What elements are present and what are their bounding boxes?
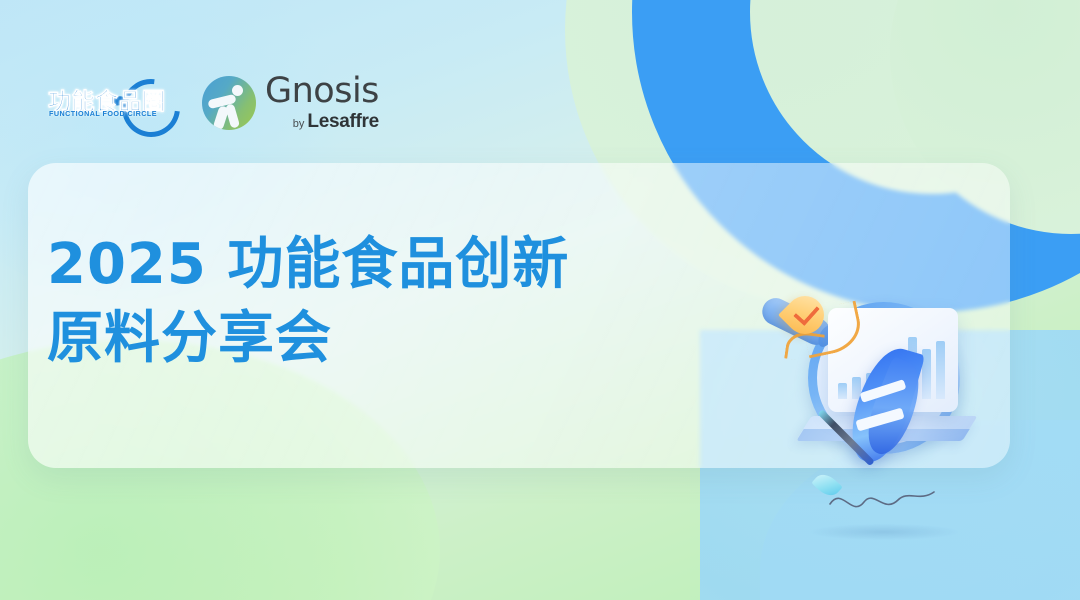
logo-bar: 功能食品圈 FUNCTIONAL FOOD CIRCLE Gnosis by L… — [48, 74, 379, 132]
headline-line-1: 2025 功能食品创新 — [47, 228, 687, 302]
ground-shadow — [810, 524, 958, 540]
hero-illustration — [756, 288, 996, 558]
signature-line — [828, 484, 936, 520]
gnosis-parent-label: Lesaffre — [307, 111, 379, 133]
gnosis-wordmark: Gnosis by Lesaffre — [265, 74, 379, 133]
figure-head — [232, 85, 243, 96]
quill-pen-icon — [812, 346, 952, 546]
figure-leg-right — [225, 103, 240, 129]
functional-food-circle-logo: 功能食品圈 FUNCTIONAL FOOD CIRCLE — [48, 76, 180, 130]
gnosis-logo: Gnosis by Lesaffre — [202, 74, 379, 132]
page-title: 2025 功能食品创新 原料分享会 — [47, 228, 687, 377]
gnosis-subtitle: by Lesaffre — [265, 111, 379, 133]
check-badge-icon — [786, 296, 824, 342]
headline-line-2: 原料分享会 — [47, 302, 687, 376]
ffc-logo-english: FUNCTIONAL FOOD CIRCLE — [49, 109, 157, 118]
gnosis-human-figure-icon — [202, 76, 256, 130]
gnosis-by-label: by — [293, 118, 305, 130]
event-banner: 功能食品圈 FUNCTIONAL FOOD CIRCLE Gnosis by L… — [0, 0, 1080, 600]
gnosis-title: Gnosis — [265, 74, 379, 109]
